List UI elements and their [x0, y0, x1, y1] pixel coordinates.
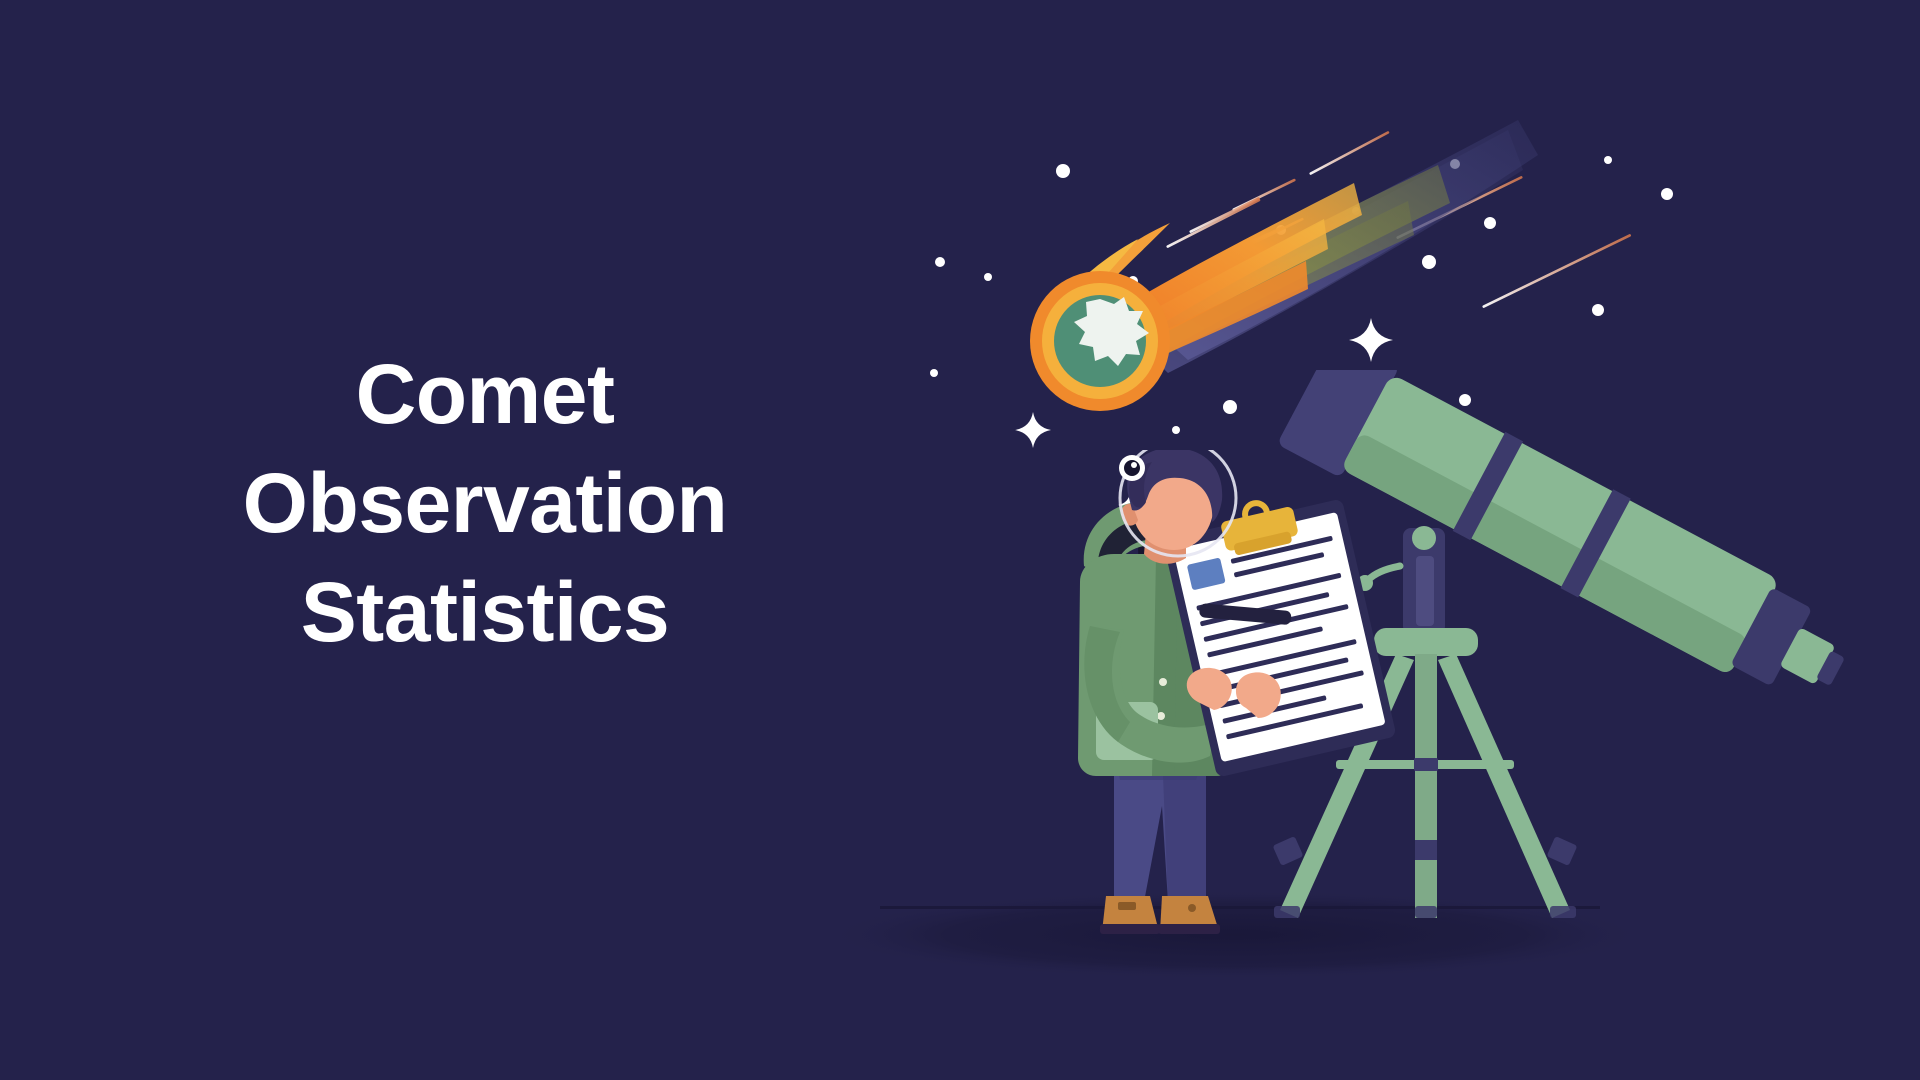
title-line-1: Comet [140, 340, 830, 449]
star [1592, 304, 1604, 316]
star [984, 273, 992, 281]
sparkle-star [1015, 412, 1051, 448]
headlamp-icon [1119, 455, 1145, 481]
title-line-3: Statistics [140, 558, 830, 667]
page-title: Comet Observation Statistics [140, 340, 830, 668]
meteor-streak [1309, 131, 1390, 176]
star [1604, 156, 1612, 164]
astronomer-boots [1100, 896, 1220, 934]
star [935, 257, 945, 267]
sparkle-star [1349, 318, 1393, 362]
star [1661, 188, 1673, 200]
astronomer [1010, 450, 1470, 970]
star [930, 369, 938, 377]
meteor-streak [1482, 234, 1631, 309]
title-line-2: Observation [140, 449, 830, 558]
star [1484, 217, 1496, 229]
star [1172, 426, 1180, 434]
star [1056, 164, 1070, 178]
illustration-canvas: Comet Observation Statistics [0, 0, 1920, 1080]
star [1422, 255, 1436, 269]
comet [1030, 120, 1538, 411]
meteor-streak [1189, 197, 1260, 234]
star [1223, 400, 1237, 414]
